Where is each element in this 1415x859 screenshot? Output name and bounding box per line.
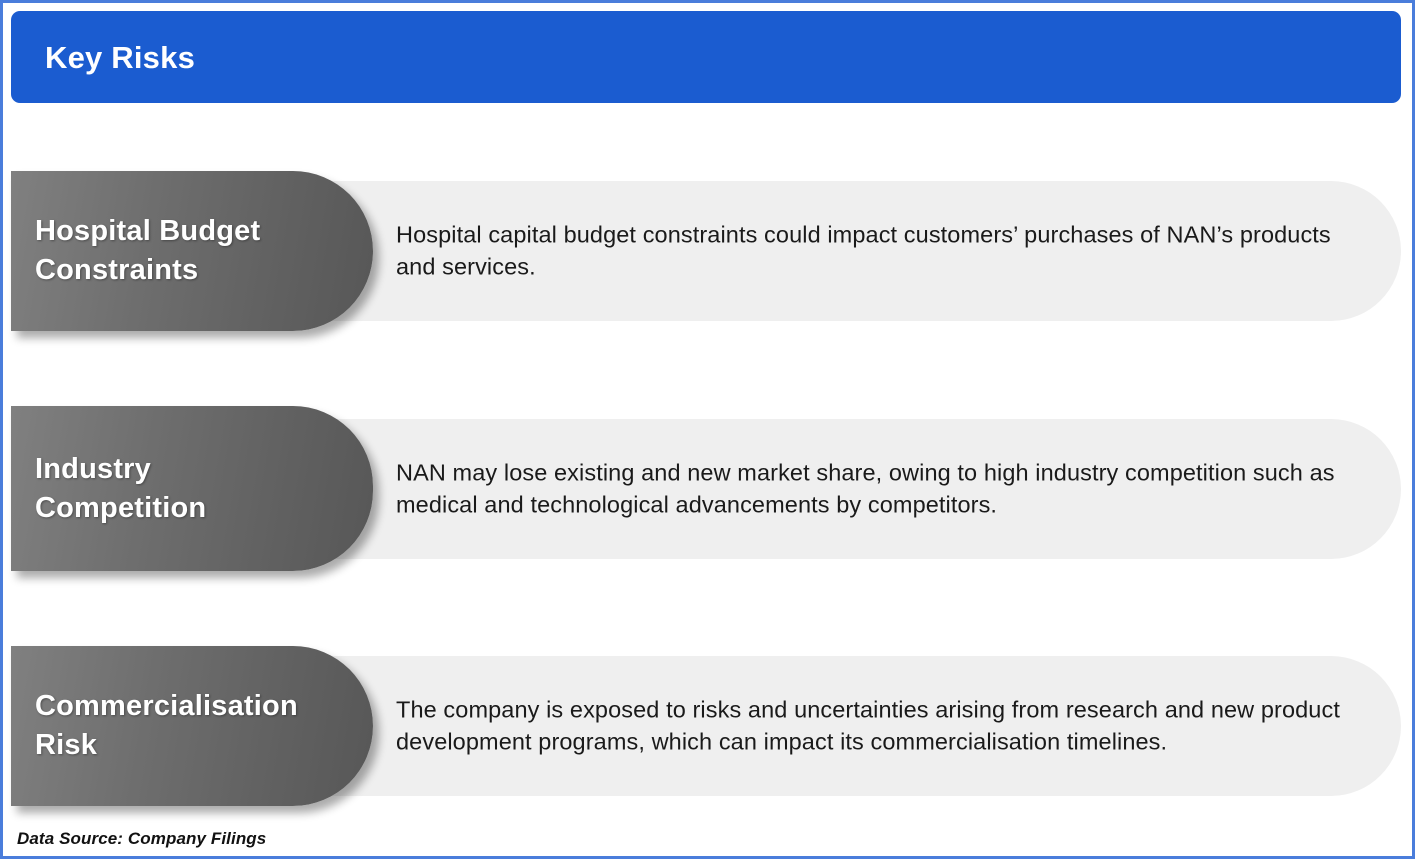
key-risks-slide: Key Risks Hospital capital budget constr… <box>0 0 1415 859</box>
risk-label-pill: Commercialisation Risk <box>11 646 373 806</box>
risk-label-pill: Industry Competition <box>11 406 373 571</box>
data-source-note: Data Source: Company Filings <box>17 829 266 849</box>
risk-row: Hospital capital budget constraints coul… <box>11 171 1401 331</box>
risk-description-text: NAN may lose existing and new market sha… <box>396 456 1361 521</box>
risk-label-text: Commercialisation Risk <box>35 687 315 764</box>
risk-description-text: Hospital capital budget constraints coul… <box>396 219 1361 284</box>
slide-header-bar: Key Risks <box>11 11 1401 103</box>
risk-label-text: Industry Competition <box>35 450 315 527</box>
risk-label-text: Hospital Budget Constraints <box>35 212 315 289</box>
risk-label-pill: Hospital Budget Constraints <box>11 171 373 331</box>
risk-row: NAN may lose existing and new market sha… <box>11 406 1401 571</box>
risk-row: The company is exposed to risks and unce… <box>11 646 1401 806</box>
page-title: Key Risks <box>45 42 195 73</box>
risk-description-text: The company is exposed to risks and unce… <box>396 694 1361 759</box>
